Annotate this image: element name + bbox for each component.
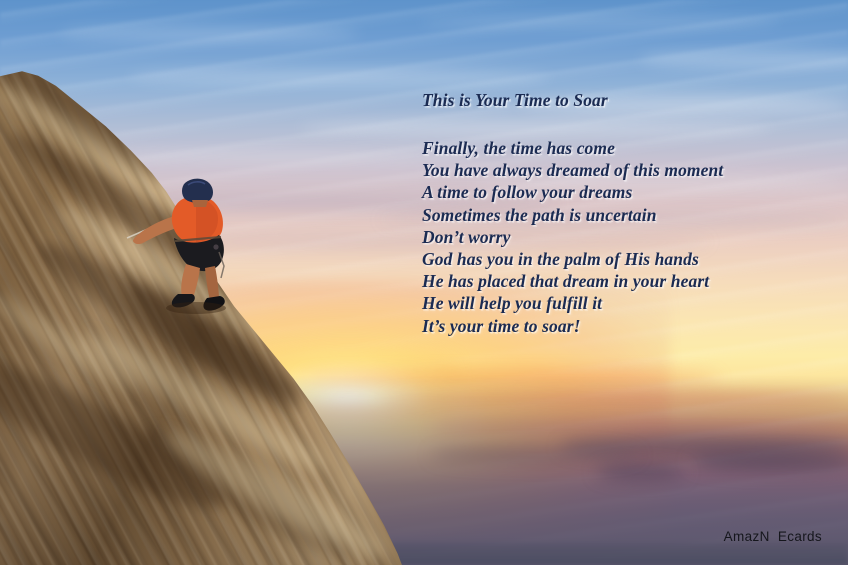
poem-line: Finally, the time has come [422,137,822,159]
poem-line: Don’t worry [422,226,822,248]
climber-shadow [166,302,226,314]
poem-line: He has placed that dream in your heart [422,270,822,292]
poem-line: He will help you fulfill it [422,292,822,314]
poem-block: This is Your Time to Soar Finally, the t… [422,90,822,337]
poem-line: God has you in the palm of His hands [422,248,822,270]
climber-neck [192,200,208,207]
poem-line: It’s your time to soar! [422,315,822,337]
poem-line: A time to follow your dreams [422,181,822,203]
ecard-image: This is Your Time to Soar Finally, the t… [0,0,848,565]
poem-lines: Finally, the time has come You have alwa… [422,137,822,337]
watermark-text: AmazN Ecards [724,529,822,544]
poem-title: This is Your Time to Soar [422,90,822,111]
poem-line: You have always dreamed of this moment [422,159,822,181]
harness-gear-loop [213,244,218,249]
poem-line: Sometimes the path is uncertain [422,204,822,226]
